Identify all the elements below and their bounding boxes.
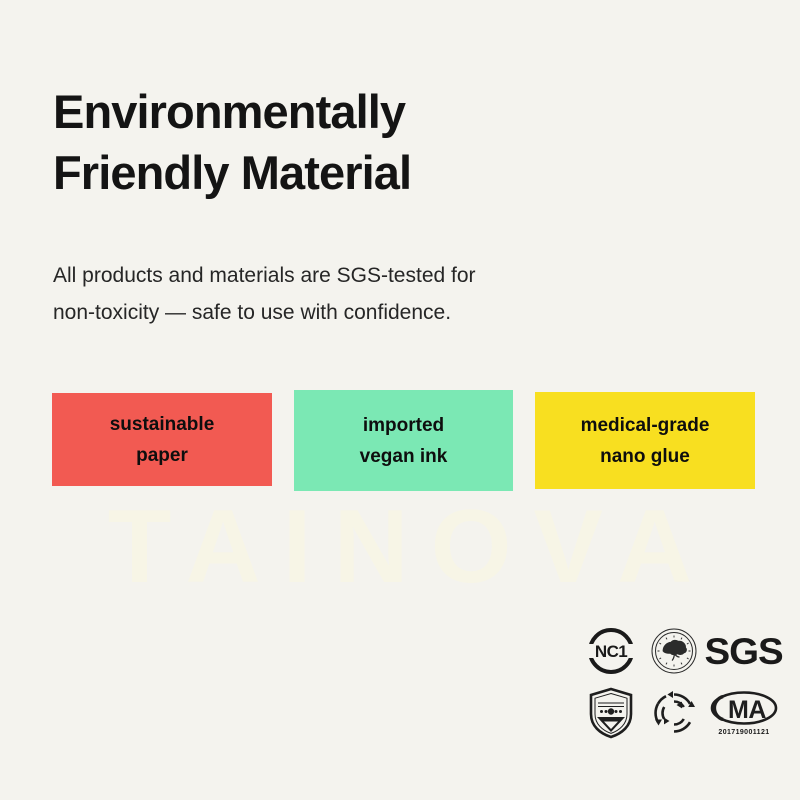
svg-text:MA: MA bbox=[728, 696, 766, 724]
recycle-symbol-badge bbox=[643, 682, 705, 744]
cma-certification-badge: MA 201719001121 bbox=[705, 682, 783, 744]
poster-canvas: TAINOVA Environmentally Friendly Materia… bbox=[0, 0, 800, 800]
material-chip-line-1: sustainable bbox=[110, 409, 215, 440]
material-chip-medical-grade-nano-glue[interactable]: medical-grade nano glue bbox=[535, 392, 755, 489]
page-title-line-1: Environmentally bbox=[53, 81, 753, 142]
material-chip-line-2: vegan ink bbox=[360, 441, 448, 472]
shield-certification-badge bbox=[578, 682, 643, 744]
material-chip-row: sustainable paper imported vegan ink med… bbox=[52, 390, 762, 495]
material-chip-line-2: nano glue bbox=[600, 441, 690, 472]
material-chip-line-1: medical-grade bbox=[581, 410, 710, 441]
sgs-wordmark: SGS bbox=[705, 633, 783, 670]
page-subtitle: All products and materials are SGS-teste… bbox=[53, 257, 693, 331]
nc1-certification-badge: NC1 bbox=[578, 620, 643, 682]
page-subtitle-line-1: All products and materials are SGS-teste… bbox=[53, 257, 693, 294]
material-chip-imported-vegan-ink[interactable]: imported vegan ink bbox=[294, 390, 513, 491]
cma-serial-number: 201719001121 bbox=[718, 729, 769, 736]
sgs-certification-badge: SGS bbox=[705, 620, 783, 682]
forest-tree-seal-badge bbox=[643, 620, 705, 682]
svg-text:NC1: NC1 bbox=[594, 642, 626, 661]
page-subtitle-line-2: non-toxicity — safe to use with confiden… bbox=[53, 294, 693, 331]
material-chip-sustainable-paper[interactable]: sustainable paper bbox=[52, 393, 272, 486]
material-chip-line-1: imported bbox=[363, 410, 444, 441]
page-title: Environmentally Friendly Material bbox=[53, 81, 753, 203]
page-title-line-2: Friendly Material bbox=[53, 142, 753, 203]
brand-watermark: TAINOVA bbox=[0, 487, 800, 607]
certification-badge-grid: NC1 SGS bbox=[578, 620, 783, 748]
material-chip-line-2: paper bbox=[136, 440, 188, 471]
